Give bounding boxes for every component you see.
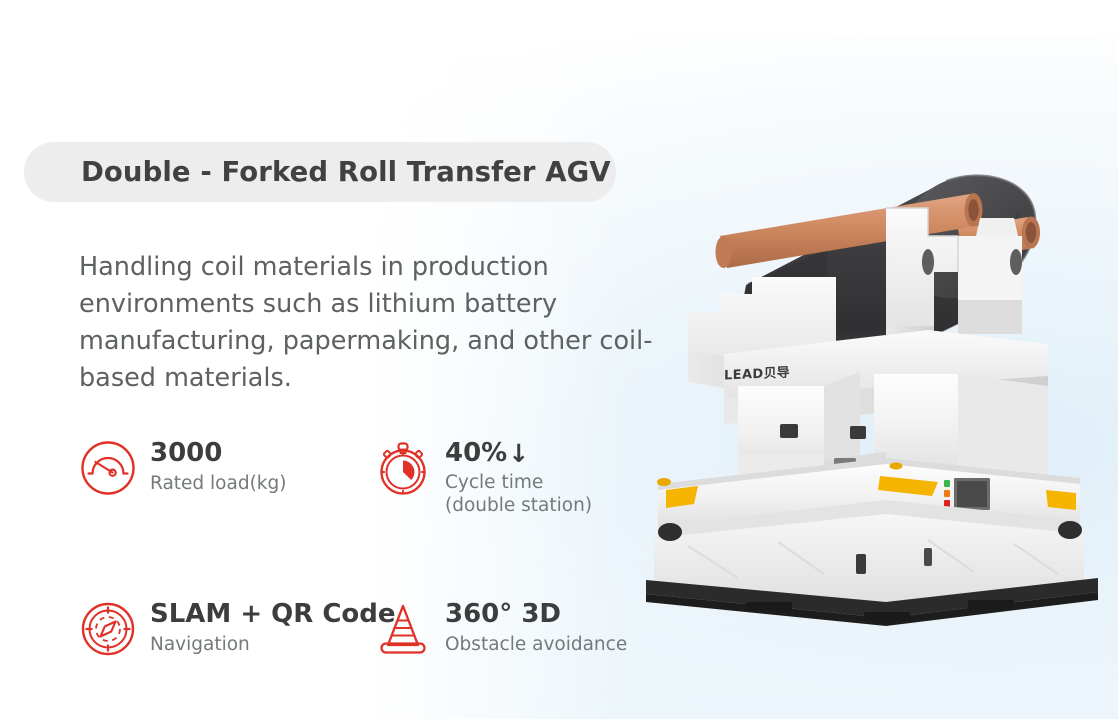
brand-logo-text: LEAD xyxy=(724,367,764,384)
mid-body-port xyxy=(780,424,798,438)
spec-label: Cycle time xyxy=(445,471,592,494)
brand-logo: LEAD贝导 xyxy=(724,367,790,383)
spec-value-number: 360° 3D xyxy=(445,601,561,627)
spec-item-obstacle-avoidance: 360° 3D Obstacle avoidance xyxy=(374,598,669,658)
bumper-pad-left xyxy=(658,523,682,541)
base-foot-right xyxy=(968,600,1014,609)
spec-row: SLAM + QR Code Navigation 360° 3D xyxy=(79,598,679,658)
spec-text: 360° 3D Obstacle avoidance xyxy=(445,598,627,656)
corner-marker-right xyxy=(1046,490,1076,510)
compass-icon xyxy=(79,600,137,658)
base-foot-left xyxy=(746,602,792,611)
spec-value-number: 3000 xyxy=(150,440,222,466)
product-description: Handling coil materials in production en… xyxy=(79,249,659,397)
stopwatch-icon xyxy=(374,439,432,497)
skirt-port-left xyxy=(856,554,866,574)
spec-value: 3000 xyxy=(150,440,286,466)
spec-item-rated-load: 3000 Rated load(kg) xyxy=(79,437,374,517)
spec-label-secondary: (double station) xyxy=(445,494,592,517)
spec-text: 40% ↓ Cycle time (double station) xyxy=(445,437,592,517)
base-foot-center xyxy=(864,612,910,621)
indicator-red xyxy=(944,500,950,507)
skirt-port-right xyxy=(924,548,932,566)
gauge-icon xyxy=(79,439,137,497)
spec-label: Rated load(kg) xyxy=(150,472,286,495)
spec-item-navigation: SLAM + QR Code Navigation xyxy=(79,598,374,658)
spec-item-cycle-time: 40% ↓ Cycle time (double station) xyxy=(374,437,669,517)
spec-label: Obstacle avoidance xyxy=(445,633,627,656)
indicator-orange xyxy=(944,490,950,497)
beacon-left xyxy=(657,478,671,486)
down-arrow-icon: ↓ xyxy=(508,441,529,466)
spec-value: 40% ↓ xyxy=(445,440,592,466)
spec-value-number: 40% xyxy=(445,440,507,466)
indicator-green xyxy=(944,480,950,487)
spec-list: 3000 Rated load(kg) xyxy=(79,437,679,658)
spec-value: 360° 3D xyxy=(445,601,627,627)
spec-text: SLAM + QR Code Navigation xyxy=(150,598,396,656)
spec-row: 3000 Rated load(kg) xyxy=(79,437,679,517)
traffic-cone-icon xyxy=(374,600,432,658)
spec-label: Navigation xyxy=(150,633,396,656)
beacon-center xyxy=(890,462,903,469)
page-title: Double - Forked Roll Transfer AGV xyxy=(81,156,611,188)
mid-body-port-2 xyxy=(850,426,866,439)
spec-text: 3000 Rated load(kg) xyxy=(150,437,286,495)
spec-value-number: SLAM + QR Code xyxy=(150,601,396,627)
page-title-pill: Double - Forked Roll Transfer AGV xyxy=(24,142,616,202)
brand-logo-text-cn: 贝导 xyxy=(764,366,790,382)
bumper-pad-right xyxy=(1058,521,1082,539)
product-image-agv xyxy=(628,86,1106,556)
spec-value: SLAM + QR Code xyxy=(150,601,396,627)
